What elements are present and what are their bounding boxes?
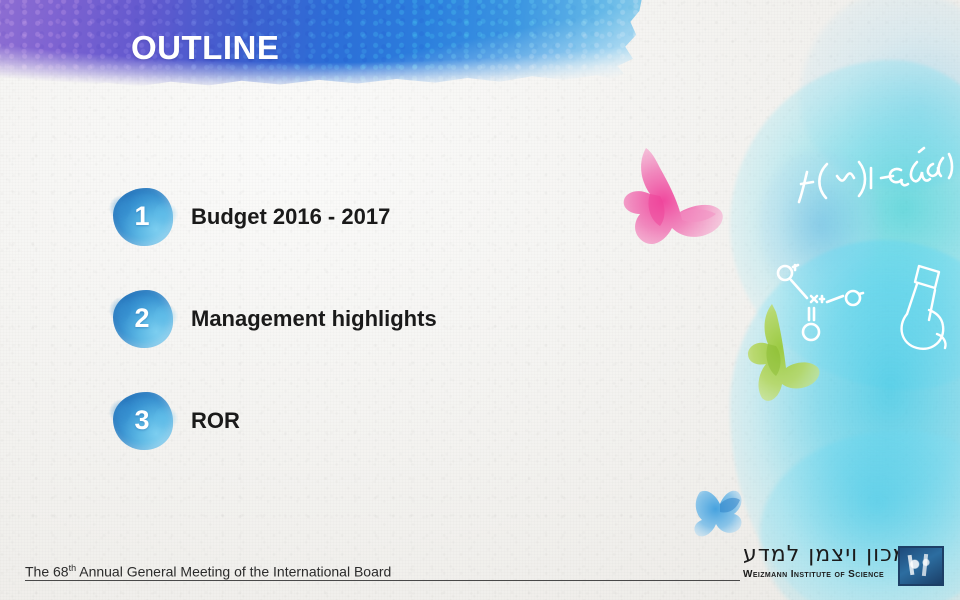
presentation-slide: OUTLINE 1 Budget 2016 - 2017 2 Managemen… [0, 0, 960, 600]
outline-item-1[interactable]: 1 Budget 2016 - 2017 [113, 188, 390, 246]
footer-text-after: Annual General Meeting of the Internatio… [76, 564, 391, 580]
green-bird [742, 298, 824, 404]
weizmann-logo: מכון ויצמן למדע Weizmann Institute of Sc… [735, 542, 950, 590]
formula-doodle [793, 140, 958, 210]
outline-item-number: 1 [113, 188, 173, 246]
logo-english-text: Weizmann Institute of Science [743, 569, 884, 580]
blue-butterfly [686, 486, 752, 544]
number-blob-icon-1: 1 [113, 188, 173, 246]
footer-text-before: The 68 [25, 564, 69, 580]
footer-ordinal-superscript: th [69, 563, 77, 573]
logo-hebrew-text: מכון ויצמן למדע [743, 542, 909, 567]
outline-item-label: Budget 2016 - 2017 [191, 204, 390, 230]
footer-caption: The 68th Annual General Meeting of the I… [25, 563, 391, 580]
outline-item-number: 2 [113, 290, 173, 348]
header-banner [0, 0, 642, 90]
outline-item-number: 3 [113, 392, 173, 450]
logo-emblem-icon [898, 546, 944, 586]
outline-item-label: Management highlights [191, 306, 437, 332]
flask-doodle [893, 262, 960, 358]
number-blob-icon-3: 3 [113, 392, 173, 450]
outline-item-3[interactable]: 3 ROR [113, 392, 240, 450]
page-title: OUTLINE [131, 29, 279, 67]
footer-divider [25, 580, 740, 581]
banner-texture [0, 0, 642, 90]
outline-item-label: ROR [191, 408, 240, 434]
outline-item-2[interactable]: 2 Management highlights [113, 290, 437, 348]
pink-bird [616, 136, 728, 260]
number-blob-icon-2: 2 [113, 290, 173, 348]
